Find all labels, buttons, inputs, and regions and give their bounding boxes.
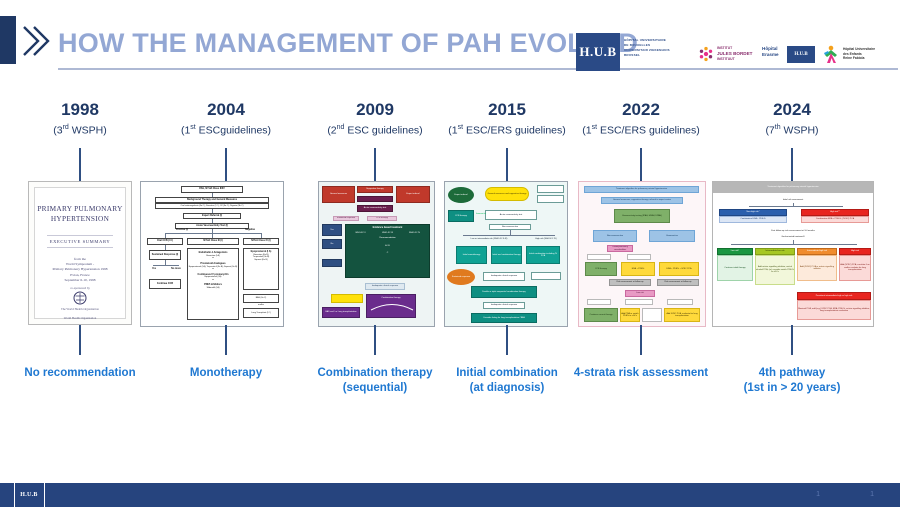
box-2015-6: Low or intermediate risk (WHO-FC II-III) xyxy=(467,236,511,242)
cover-rule-1 xyxy=(47,235,113,236)
box-2024-strata-1-label: Intermediate-low risk xyxy=(755,248,795,255)
caption-2004-line1: Monotherapy xyxy=(146,366,306,381)
box-2009-mid: Acute vasoreactivity test xyxy=(357,205,393,212)
box-2009-bottom-0: Inadequate clinical response xyxy=(365,283,405,290)
box-2004-19: or xyxy=(188,268,238,271)
box-2024-strata-0-label: Low risk* xyxy=(717,248,753,255)
cover-body-line5: September 6-10, 1998 xyxy=(35,278,125,283)
table-2009-row-1: A / B xyxy=(348,245,427,248)
thumbnail-2015[interactable]: Expert referral General measures and sup… xyxy=(444,181,568,327)
box-2024-risk-low: Non-high risk* xyxy=(719,209,787,216)
box-2009-top-1: Supportive therapy xyxy=(357,186,393,193)
caption-2004: Monotherapy xyxy=(146,366,306,381)
footer-divider-right xyxy=(44,483,45,507)
huderf-logo-line3: Reine Fabiola xyxy=(843,56,875,61)
header-divider xyxy=(58,68,898,70)
hub-logo-mark: H.U.B xyxy=(579,44,616,60)
connector-bottom-2022 xyxy=(640,325,642,355)
box-2004-24: Sildenafil (I A) xyxy=(188,287,238,290)
box-2024-risk-high: High risk** xyxy=(801,209,869,216)
box-2009-sep xyxy=(357,196,393,202)
box-2024-risk-high-sub: Combination ERA + PDE-5i, (IV/SC) PCA xyxy=(801,216,869,223)
box-2022-2: Vasoreactivity testing (IPAH, HPAH, DPAH… xyxy=(614,209,670,223)
box-2022-12: Risk assessment at follow-up xyxy=(609,279,651,286)
box-2004-group-class4: Epoprostenol (I A) Bosentan (IIa B) Trep… xyxy=(243,248,279,290)
caption-1998-line1: No recommendation xyxy=(0,366,160,381)
box-2004-9: NYHA Class IV (I) xyxy=(243,238,279,245)
box-2022-note-4 xyxy=(667,299,693,305)
caption-2024-line1: 4th pathway xyxy=(712,366,872,381)
box-2009-top-0: General measures xyxy=(322,186,355,203)
timeline-column-2022: 2022 (1st ESC/ERS guidelines) xyxy=(571,100,711,138)
box-2022-note-2 xyxy=(587,299,611,305)
table-2009-col-2: WHO-FC IV xyxy=(402,232,427,235)
box-2015-10: Initial combination including IV PCA xyxy=(526,246,560,264)
box-2009-bottom-1-text: Combination therapy xyxy=(369,297,413,300)
cover-1998: PRIMARY PULMONARY HYPERTENSION EXECUTIVE… xyxy=(28,181,132,325)
box-2015-8: Initial monotherapy xyxy=(456,246,487,264)
box-2009-left-1: CCB therapy xyxy=(367,216,397,221)
box-2004-7: Oral CCB (I C) xyxy=(147,238,183,245)
box-2015-note-2 xyxy=(531,272,561,280)
hub-logo-text: HÔPITAL UNIVERSITAIRE DE BRUXELLES UNIVE… xyxy=(624,38,684,66)
bordet-logo: INSTITUT JULES BORDET INSTITUUT xyxy=(697,44,759,66)
cover-rule-2 xyxy=(47,247,113,248)
box-2009-left-3: No xyxy=(322,239,342,249)
box-2024-bottom: Persistent intermediate-high or high ris… xyxy=(797,292,871,300)
box-2004-32: Lung Transplant (I C) xyxy=(243,308,279,318)
connector-top-2004 xyxy=(225,148,227,181)
year-sublabel-1998: (3rd WSPH) xyxy=(17,121,143,138)
year-label-1998: 1998 xyxy=(17,100,143,120)
slide-header: HOW THE MANAGEMENT OF PAH EVOLVED H.U.B … xyxy=(0,14,900,72)
bordet-logo-text: INSTITUT JULES BORDET INSTITUUT xyxy=(717,46,752,62)
box-2024-strata-3-label: High risk xyxy=(839,248,871,255)
box-2004-10: Sustained Response (I) xyxy=(149,250,181,260)
box-2022-10: ERA + PDE5i + IV/SC PCA xyxy=(659,262,699,276)
timeline-column-2009: 2009 (2nd ESC guidelines) xyxy=(305,100,445,138)
connector-bottom-2004 xyxy=(225,325,227,355)
table-2009-col-1: WHO-FC III xyxy=(375,232,400,235)
box-2004-group-class3: Endothelin-1 Antagonists Bosentan (I A) … xyxy=(187,248,239,320)
label-2004-yes: Yes xyxy=(145,266,163,272)
thumbnail-2009[interactable]: General measures Supportive therapy Expe… xyxy=(318,181,435,327)
box-2015-note-1 xyxy=(537,195,564,203)
connector-top-1998 xyxy=(79,148,81,181)
connector-top-2024 xyxy=(791,148,793,181)
year-label-2024: 2024 xyxy=(722,100,862,120)
box-2004-16: or xyxy=(188,257,238,260)
box-2024-strata-1-body: Add activin signalling inhibitor, switch… xyxy=(755,255,795,285)
caption-1998: No recommendation xyxy=(0,366,160,381)
label-2004-positive: Positive (I) xyxy=(169,227,195,233)
year-label-2015: 2015 xyxy=(437,100,577,120)
erasme-logo-line2: Erasme xyxy=(762,52,779,58)
curve-icon xyxy=(369,301,415,311)
box-2024-strata-2-body: Add (IV/SC) PCA or activin signalling in… xyxy=(797,255,837,281)
box-2004-8: NYHA Class III (I) xyxy=(187,238,239,245)
box-2022-12b: Risk assessment at follow-up xyxy=(657,279,699,286)
box-2015-1: General measures and supportive therapy xyxy=(485,187,529,201)
connector xyxy=(749,206,843,207)
year-sublabel-2004: (1st ESCguidelines) xyxy=(163,121,289,138)
box-2004-28: Iloprost (IIa B) xyxy=(244,259,278,262)
cover-title-line2: HYPERTENSION xyxy=(35,214,125,224)
box-2015-13: Double or triple sequential combination … xyxy=(471,286,537,298)
thumbnail-2022[interactable]: Treatment algorithm for pulmonary arteri… xyxy=(578,181,706,327)
table-2009-row-2: C xyxy=(348,252,427,255)
bordet-logo-sub-bottom: INSTITUUT xyxy=(717,57,752,62)
year-label-2022: 2022 xyxy=(571,100,711,120)
thumbnail-2004[interactable]: PAH, NYHA Class III/IV Background Therap… xyxy=(140,181,284,327)
box-2004-30: BAS (IIa C) xyxy=(243,294,279,303)
connector-top-2015 xyxy=(506,148,508,181)
slide-footer: H.U.B 1 1 xyxy=(0,483,900,507)
connector-bottom-2024 xyxy=(791,325,793,355)
box-2024-strata-2-label: Intermediate-high risk xyxy=(797,248,837,255)
box-2022-note-5 xyxy=(642,308,662,322)
box-2022-note-1 xyxy=(627,254,651,260)
thumbnail-1998[interactable]: PRIMARY PULMONARY HYPERTENSION EXECUTIVE… xyxy=(28,181,132,325)
timeline-column-2004: 2004 (1st ESCguidelines) xyxy=(163,100,289,138)
cover-org-name: The World Health Organization xyxy=(35,307,125,311)
box-2024-bottom-sub: Maximal PCA, add (e.g.) IV/SC PCA, ERA, … xyxy=(797,300,871,320)
connector xyxy=(793,240,794,244)
box-2015-9: Initial oral combination therapy xyxy=(491,246,522,264)
box-2022-13: Low risk xyxy=(625,290,655,297)
cover-org-label: co-sponsored by xyxy=(35,286,125,290)
box-2022-4: Vasoreactive xyxy=(649,230,695,242)
box-2004-0: PAH, NYHA Class III/IV xyxy=(181,186,243,193)
box-2022-3: Non-vasoreactive xyxy=(593,230,637,242)
year-label-2004: 2004 xyxy=(163,100,289,120)
year-sublabel-2024: (7th WSPH) xyxy=(722,121,862,138)
box-2015-12: Sustained response xyxy=(447,269,475,285)
box-2022-note-0 xyxy=(587,254,611,260)
caption-2022: 4-strata risk assessment xyxy=(561,366,721,381)
box-2022-0: Treatment algorithm for pulmonary arteri… xyxy=(584,186,699,193)
box-2015-11: Inadequate clinical response xyxy=(483,272,525,281)
year-sublabel-2009: (2nd ESC guidelines) xyxy=(305,121,445,138)
header-accent-bar xyxy=(0,16,16,64)
footer-mark-1: 1 xyxy=(816,491,820,498)
timeline-column-2015: 2015 (1st ESC/ERS guidelines) xyxy=(437,100,577,138)
connector-top-2022 xyxy=(640,148,642,181)
label-2004-negative: Negative xyxy=(237,227,263,233)
connector xyxy=(165,233,261,234)
table-2009-row-0: Recommendation xyxy=(348,237,427,240)
year-sublabel-2015: (1st ESC/ERS guidelines) xyxy=(437,121,577,138)
box-2015-14: Inadequate clinical response xyxy=(483,302,525,309)
cover-inner-frame: PRIMARY PULMONARY HYPERTENSION EXECUTIVE… xyxy=(34,187,126,319)
box-2015-3: CCB therapy xyxy=(448,210,474,222)
box-2022-note-3 xyxy=(625,299,653,305)
box-2024-header: Treatment algorithm for pulmonary arteri… xyxy=(713,182,873,193)
box-2022-5: Cardiopulmonary comorbidities xyxy=(607,245,633,252)
connector-bottom-1998 xyxy=(79,325,81,355)
caption-2024: 4th pathway (1st in > 20 years) xyxy=(712,366,872,396)
connector xyxy=(731,244,857,245)
caption-2015-line2: (at diagnosis) xyxy=(427,381,587,396)
connector xyxy=(793,203,794,206)
year-label-2009: 2009 xyxy=(305,100,445,120)
hub-logo: H.U.B xyxy=(576,33,620,71)
timeline-column-2024: 2024 (7th WSPH) xyxy=(722,100,862,138)
box-2015-note-0 xyxy=(537,185,564,193)
year-sublabel-2022: (1st ESC/ERS guidelines) xyxy=(571,121,711,138)
table-2009-col-0: WHO-FC II xyxy=(348,232,373,235)
box-2024-risk-low-sub: Combination ERA + PDE-5i xyxy=(719,216,787,223)
box-2022-18: Add IV/SC PCA, evaluate for lung transpl… xyxy=(664,308,700,322)
timeline-column-1998: 1998 (3rd WSPH) xyxy=(17,100,143,138)
hub-logo-line4: BRUSSEL xyxy=(624,53,684,58)
label-2004-no: No more xyxy=(167,266,185,272)
box-2015-2: Acute vasoreactivity test xyxy=(485,210,537,220)
footer-mark-2: 1 xyxy=(870,491,874,498)
box-2022-17: Add PRA or switch PDE5i to sGCs xyxy=(620,308,640,322)
cover-title: PRIMARY PULMONARY HYPERTENSION xyxy=(35,204,125,224)
caption-2024-line2: (1st in > 20 years) xyxy=(712,381,872,396)
box-2024-strata-3-body: Add (IV/SC) PCA, escalate if on and/or e… xyxy=(839,255,871,281)
double-chevron-right-icon xyxy=(20,22,54,60)
page-title: HOW THE MANAGEMENT OF PAH EVOLVED xyxy=(58,28,638,59)
box-2024-strata-0-body: Continue initial therapy xyxy=(717,255,753,281)
bordet-logo-name: JULES BORDET xyxy=(717,51,752,56)
cover-title-line1: PRIMARY PULMONARY xyxy=(35,204,125,214)
box-2009-bottom-2: BAS and / or Lung transplantation xyxy=(322,307,360,318)
connector-top-2009 xyxy=(374,148,376,181)
box-2015-5: Vasoreactive xyxy=(476,212,486,217)
hub-small-logo-mark: H.U.B xyxy=(794,52,807,57)
box-2004-13: Continue CCB xyxy=(149,279,181,289)
box-2015-7: High risk (WHO-FC IV) xyxy=(533,236,559,242)
box-2004-22: or xyxy=(188,279,238,282)
bordet-flower-icon xyxy=(697,45,715,63)
connector-bottom-2009 xyxy=(374,325,376,355)
box-2009-top-2: Expert referral xyxy=(396,186,430,203)
connector-bottom-2015 xyxy=(506,325,508,355)
box-2009-bottom-1: Combination therapy xyxy=(366,294,416,318)
footer-divider-left xyxy=(14,483,15,507)
huderf-logo: Hôpital Universitaire des Enfants Reine … xyxy=(822,44,888,66)
slide-root: HOW THE MANAGEMENT OF PAH EVOLVED H.U.B … xyxy=(0,0,900,507)
footer-hub-logo: H.U.B xyxy=(19,489,39,501)
table-2009: Evidence based treatment WHO-FC II WHO-F… xyxy=(345,224,430,278)
caption-2022-line1: 4-strata risk assessment xyxy=(561,366,721,381)
huderf-logo-line1: Hôpital Universitaire xyxy=(843,47,875,52)
erasme-logo-text: Hôpital Erasme xyxy=(762,46,779,58)
huderf-figure-icon xyxy=(822,45,840,64)
box-2022-1: General measures, supportive therapy, re… xyxy=(601,197,683,204)
table-2009-header: Evidence based treatment xyxy=(348,227,427,230)
box-2022-6: CCB therapy xyxy=(585,262,617,276)
box-2022-9: ERA + PDE5i xyxy=(621,262,655,276)
cover-footer: World Health Organization xyxy=(35,316,125,320)
box-2015-0: Expert referral xyxy=(448,187,474,203)
box-2009-bottom-label xyxy=(331,294,363,303)
thumbnail-2024[interactable]: Treatment algorithm for pulmonary arteri… xyxy=(712,181,874,327)
connector xyxy=(510,230,511,235)
box-2009-left-0: Sustained response xyxy=(333,216,359,221)
cover-body: from the World Symposium - Primary Pulmo… xyxy=(35,257,125,283)
box-2009-left-2: Yes xyxy=(322,224,342,236)
huderf-logo-text: Hôpital Universitaire des Enfants Reine … xyxy=(843,47,875,61)
box-2009-left-4 xyxy=(322,259,342,267)
who-emblem-icon xyxy=(73,291,87,305)
cover-subtitle: EXECUTIVE SUMMARY xyxy=(35,239,125,244)
hub-small-logo: H.U.B xyxy=(787,46,815,63)
box-2015-15: Consider listing for lung transplantatio… xyxy=(471,313,537,323)
box-2022-16: Continue current therapy xyxy=(584,308,618,322)
